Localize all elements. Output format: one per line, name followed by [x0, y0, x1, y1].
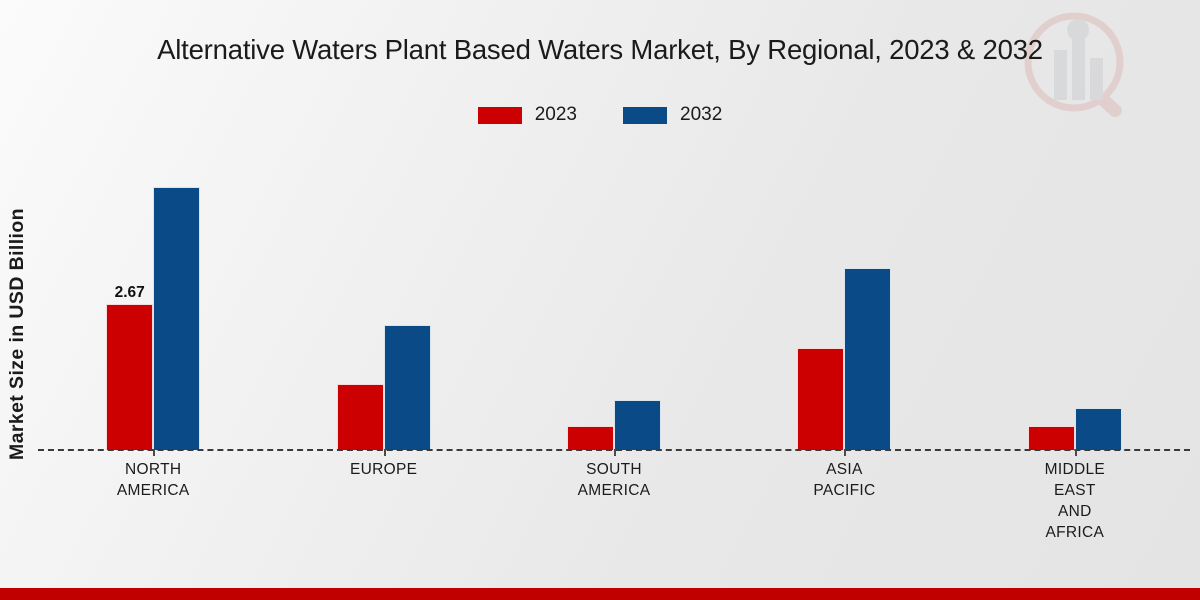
category-label-2: EUROPE: [268, 459, 498, 543]
category-label-line: PACIFIC: [729, 480, 959, 501]
category-label-line: AMERICA: [38, 480, 268, 501]
category-label-line: NORTH: [38, 459, 268, 480]
bar-group: [960, 150, 1190, 450]
bar-2023[interactable]: [797, 348, 844, 450]
tick-mark: [153, 449, 155, 456]
y-axis-title-text: Market Size in USD Billion: [6, 208, 29, 460]
bottom-accent-bar: [0, 588, 1200, 600]
category-label-line: EUROPE: [268, 459, 498, 480]
legend-item-2023[interactable]: 2023: [478, 104, 577, 126]
x-axis-category-labels: NORTHAMERICAEUROPESOUTHAMERICAASIAPACIFI…: [38, 459, 1190, 543]
x-axis-tick: [499, 449, 729, 457]
chart-legend: 2023 2032: [0, 104, 1200, 126]
bar-2032[interactable]: [1075, 408, 1122, 450]
bar-2032[interactable]: [614, 400, 661, 450]
bar-2032[interactable]: [384, 325, 431, 450]
category-label-1: NORTHAMERICA: [38, 459, 268, 543]
bar-2032[interactable]: [844, 268, 891, 450]
bar-group: [729, 150, 959, 450]
bar-pair: [567, 150, 661, 450]
legend-item-2032[interactable]: 2032: [623, 104, 722, 126]
bar-2032[interactable]: [153, 187, 200, 450]
legend-swatch-2023: [478, 107, 522, 124]
category-label-4: ASIAPACIFIC: [729, 459, 959, 543]
x-axis-tick: [38, 449, 268, 457]
legend-label-2032: 2032: [680, 104, 722, 126]
bar-group: 2.67: [38, 150, 268, 450]
tick-mark: [384, 449, 386, 456]
tick-mark: [614, 449, 616, 456]
bar-group: [499, 150, 729, 450]
category-label-line: MIDDLE: [960, 459, 1190, 480]
category-label-line: AND: [960, 501, 1190, 522]
tick-mark: [1075, 449, 1077, 456]
chart-title: Alternative Waters Plant Based Waters Ma…: [0, 34, 1200, 66]
category-label-5: MIDDLEEASTANDAFRICA: [960, 459, 1190, 543]
bar-pair: 2.67: [106, 150, 200, 450]
plot-area: 2.67: [38, 150, 1190, 450]
bar-2023[interactable]: 2.67: [106, 304, 153, 450]
bar-group: [268, 150, 498, 450]
x-axis-ticks: [38, 449, 1190, 457]
legend-label-2023: 2023: [535, 104, 577, 126]
bar-2023[interactable]: [337, 384, 384, 450]
category-label-line: AFRICA: [960, 522, 1190, 543]
chart-container: Alternative Waters Plant Based Waters Ma…: [0, 0, 1200, 600]
bar-2023[interactable]: [567, 426, 614, 450]
x-axis-tick: [729, 449, 959, 457]
legend-swatch-2032: [623, 107, 667, 124]
category-label-line: AMERICA: [499, 480, 729, 501]
category-label-3: SOUTHAMERICA: [499, 459, 729, 543]
y-axis-title: Market Size in USD Billion: [2, 140, 32, 460]
bar-value-label: 2.67: [115, 284, 145, 302]
category-label-line: EAST: [960, 480, 1190, 501]
category-label-line: ASIA: [729, 459, 959, 480]
bar-pair: [1028, 150, 1122, 450]
x-axis-tick: [268, 449, 498, 457]
tick-mark: [844, 449, 846, 456]
bar-pair: [797, 150, 891, 450]
x-axis-tick: [960, 449, 1190, 457]
bar-pair: [337, 150, 431, 450]
bar-2023[interactable]: [1028, 426, 1075, 450]
category-label-line: SOUTH: [499, 459, 729, 480]
